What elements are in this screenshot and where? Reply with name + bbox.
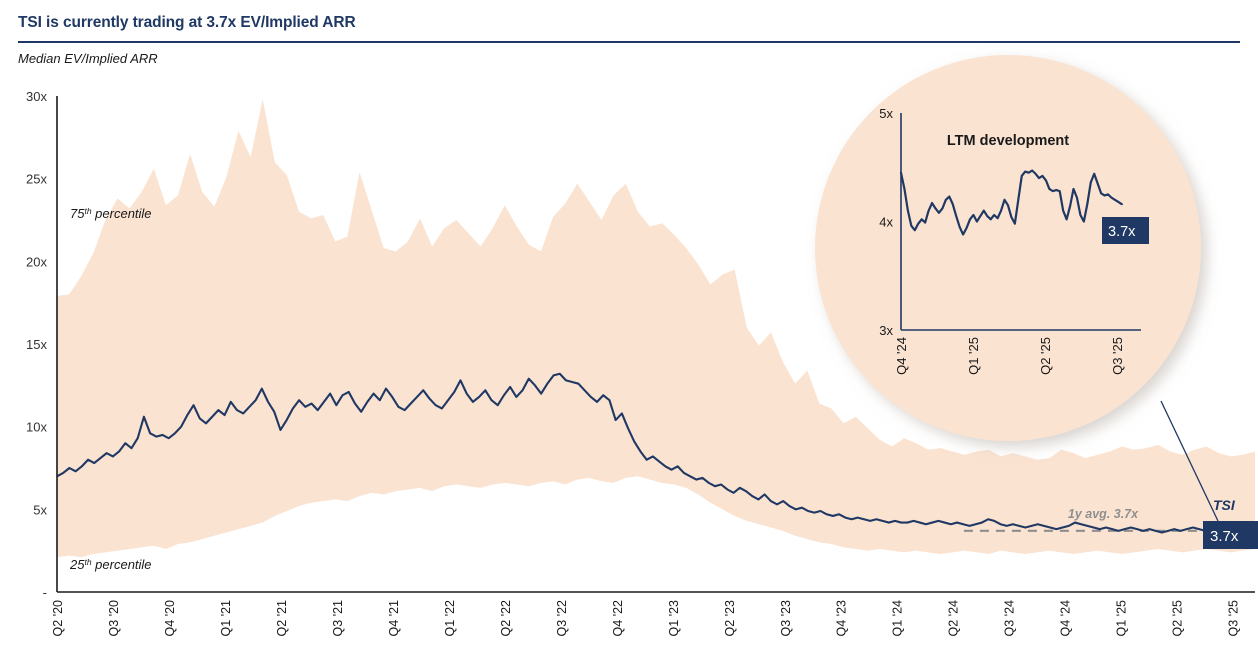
x-tick-label: Q2 '21: [275, 600, 289, 636]
inset-callout: LTM development 3x4x5x Q4 '24Q1 '25Q2 '2…: [815, 55, 1201, 441]
x-tick-label: Q4 '24: [1059, 600, 1073, 636]
y-tick-label: 10x: [26, 420, 47, 435]
inset-value-badge: 3.7x: [1102, 217, 1149, 244]
x-tick-label: Q3 '22: [555, 600, 569, 636]
y-tick-label: 15x: [26, 337, 47, 352]
inset-value-badge-text: 3.7x: [1108, 224, 1136, 240]
x-tick-label: Q1 '25: [1115, 600, 1129, 636]
y-tick-label: 30x: [26, 89, 47, 104]
y-tick-label: -: [43, 585, 47, 600]
x-tick-label: Q4 '22: [611, 600, 625, 636]
x-tick-label: Q3 '24: [1003, 600, 1017, 636]
chart-container: -5x10x15x20x25x30x Q2 '20Q3 '20Q4 '20Q1 …: [0, 0, 1258, 665]
x-tick-label: Q1 '23: [667, 600, 681, 636]
x-tick-label: Q3 '21: [331, 600, 345, 636]
x-tick-label: Q4 '20: [163, 600, 177, 636]
inset-y-tick-label: 3x: [879, 323, 893, 338]
x-tick-label: Q3 '25: [1227, 600, 1241, 636]
x-tick-label: Q2 '24: [947, 600, 961, 636]
x-axis-ticks: Q2 '20Q3 '20Q4 '20Q1 '21Q2 '21Q3 '21Q4 '…: [51, 600, 1241, 636]
x-tick-label: Q2 '20: [51, 600, 65, 636]
series-label-tsi: TSI: [1213, 497, 1236, 513]
x-tick-label: Q1 '24: [891, 600, 905, 636]
inset-x-tick-label: Q2 '25: [1038, 337, 1053, 375]
x-tick-label: Q1 '22: [443, 600, 457, 636]
x-tick-label: Q3 '23: [779, 600, 793, 636]
lower-percentile-label: 25th percentile: [69, 557, 152, 572]
inset-title: LTM development: [947, 133, 1069, 149]
value-badge-text: 3.7x: [1210, 528, 1239, 545]
y-tick-label: 25x: [26, 172, 47, 187]
x-tick-label: Q2 '22: [499, 600, 513, 636]
x-tick-label: Q1 '21: [219, 600, 233, 636]
inset-x-tick-label: Q4 '24: [894, 337, 909, 375]
y-tick-label: 20x: [26, 254, 47, 269]
average-label: 1y avg. 3.7x: [1068, 507, 1139, 521]
x-tick-label: Q3 '20: [107, 600, 121, 636]
upper-percentile-label: 75th percentile: [70, 206, 152, 221]
x-tick-label: Q2 '23: [723, 600, 737, 636]
chart-svg: -5x10x15x20x25x30x Q2 '20Q3 '20Q4 '20Q1 …: [0, 0, 1258, 665]
x-tick-label: Q4 '23: [835, 600, 849, 636]
inset-y-tick-label: 5x: [879, 106, 893, 121]
inset-x-tick-label: Q1 '25: [966, 337, 981, 375]
inset-y-tick-label: 4x: [879, 215, 893, 230]
y-axis-ticks: -5x10x15x20x25x30x: [26, 89, 47, 600]
callout-circle: [815, 55, 1201, 441]
inset-x-tick-label: Q3 '25: [1110, 337, 1125, 375]
y-tick-label: 5x: [33, 502, 47, 517]
x-tick-label: Q4 '21: [387, 600, 401, 636]
x-tick-label: Q2 '25: [1171, 600, 1185, 636]
value-badge: 3.7x: [1203, 521, 1258, 549]
